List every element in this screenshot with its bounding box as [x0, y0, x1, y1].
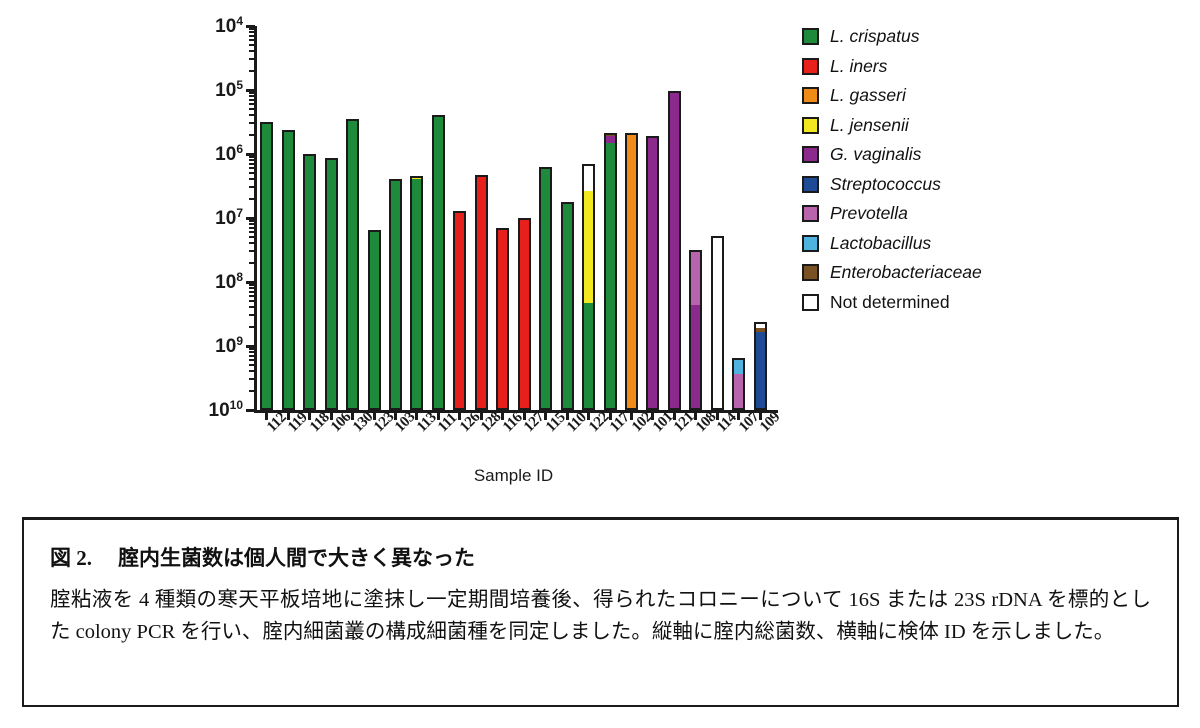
- legend-item-liners[interactable]: L. iners: [802, 52, 1182, 82]
- legend-label: G. vaginalis: [830, 144, 921, 165]
- y-tick-label: 105: [215, 78, 243, 102]
- y-tick-minor: [249, 50, 255, 52]
- y-tick-minor: [249, 284, 255, 286]
- bar-109[interactable]: [754, 322, 767, 410]
- y-tick-minor: [249, 108, 255, 110]
- bar-segment-gvaginalis: [648, 138, 657, 408]
- y-tick-minor: [249, 39, 255, 41]
- y-tick-minor: [249, 262, 255, 264]
- y-tick-minor: [249, 223, 255, 225]
- y-tick-minor: [249, 250, 255, 252]
- legend-item-gvaginalis[interactable]: G. vaginalis: [802, 140, 1182, 170]
- color-swatch-icon: [802, 235, 819, 252]
- y-tick-minor: [249, 198, 255, 200]
- bar-106[interactable]: [325, 158, 338, 410]
- color-swatch-icon: [802, 294, 819, 311]
- y-tick-minor: [249, 306, 255, 308]
- bar-107[interactable]: [732, 358, 745, 410]
- y-tick-minor: [249, 220, 255, 222]
- y-tick-major: [246, 89, 255, 92]
- y-tick-minor: [249, 58, 255, 60]
- bar-segment-prevotella: [691, 252, 700, 305]
- bar-segment-liners: [477, 177, 486, 408]
- caption-title-text: 腟内生菌数は個人間で大きく異なった: [118, 546, 475, 570]
- y-tick-minor: [249, 348, 255, 350]
- y-tick-minor: [249, 122, 255, 124]
- legend-label: L. iners: [830, 56, 887, 77]
- bar-segment-lcrispatus: [563, 204, 572, 408]
- y-tick-minor: [249, 231, 255, 233]
- bar-segment-lcrispatus: [284, 132, 293, 408]
- bar-segment-notdetermined: [713, 238, 722, 408]
- y-tick-minor: [249, 242, 255, 244]
- bar-segment-lcrispatus: [262, 124, 271, 408]
- bar-segment-streptococcus: [756, 332, 765, 408]
- bar-113[interactable]: [410, 176, 423, 410]
- caption-body: 腟粘液を 4 種類の寒天平板培地に塗抹し一定期間培養後、得られたコロニーについて…: [50, 584, 1151, 648]
- y-tick-minor: [249, 300, 255, 302]
- y-tick-minor: [249, 134, 255, 136]
- caption-figure-number: 図 2.: [50, 546, 92, 570]
- legend: L. crispatusL. inersL. gasseriL. jenseni…: [802, 22, 1182, 317]
- bar-118[interactable]: [303, 154, 316, 410]
- bar-102[interactable]: [625, 133, 638, 410]
- y-tick-label: 109: [215, 334, 243, 358]
- bar-segment-lcrispatus: [434, 117, 443, 408]
- bar-126[interactable]: [453, 211, 466, 410]
- bar-127[interactable]: [518, 218, 531, 410]
- legend-label: Not determined: [830, 292, 950, 313]
- legend-label: Lactobacillus: [830, 233, 931, 254]
- bar-segment-lgasseri: [627, 135, 636, 408]
- legend-label: Prevotella: [830, 203, 908, 224]
- bar-segment-prevotella: [734, 374, 743, 408]
- legend-label: L. gasseri: [830, 85, 906, 106]
- bar-110[interactable]: [561, 202, 574, 410]
- bar-segment-ljensenii: [584, 191, 593, 304]
- bar-108[interactable]: [689, 250, 702, 410]
- legend-item-lcrispatus[interactable]: L. crispatus: [802, 22, 1182, 52]
- y-tick-minor: [249, 92, 255, 94]
- caption-box: 図 2.腟内生菌数は個人間で大きく異なった 腟粘液を 4 種類の寒天平板培地に塗…: [22, 517, 1179, 707]
- figure-chart-area: 生菌数(CFU/ml 腟粘液 ) 1010109108107106105104 …: [0, 0, 1200, 512]
- y-tick-major: [246, 345, 255, 348]
- bar-segment-liners: [455, 213, 464, 408]
- y-tick-minor: [249, 156, 255, 158]
- y-tick-major: [246, 217, 255, 220]
- plot-region: 1010109108107106105104 11211911810613012…: [256, 26, 771, 410]
- y-tick-minor: [249, 99, 255, 101]
- y-tick-minor: [249, 186, 255, 188]
- y-tick-minor: [249, 28, 255, 30]
- bar-segment-liners: [520, 220, 529, 408]
- legend-item-notdetermined[interactable]: Not determined: [802, 288, 1182, 318]
- legend-item-streptococcus[interactable]: Streptococcus: [802, 170, 1182, 200]
- y-tick-minor: [249, 236, 255, 238]
- bar-111[interactable]: [432, 115, 445, 410]
- y-tick-minor: [249, 172, 255, 174]
- bar-115[interactable]: [539, 167, 552, 410]
- y-tick-label: 108: [215, 270, 243, 294]
- legend-item-ljensenii[interactable]: L. jensenii: [802, 111, 1182, 141]
- bar-segment-lcrispatus: [584, 303, 593, 408]
- y-tick-minor: [249, 291, 255, 293]
- bar-114[interactable]: [711, 236, 724, 410]
- bar-series-container: [256, 26, 771, 410]
- color-swatch-icon: [802, 28, 819, 45]
- bar-segment-lcrispatus: [305, 156, 314, 408]
- y-tick-minor: [249, 31, 255, 33]
- y-tick-minor: [249, 359, 255, 361]
- color-swatch-icon: [802, 58, 819, 75]
- y-tick-minor: [249, 178, 255, 180]
- y-tick-minor: [249, 167, 255, 169]
- y-tick-minor: [249, 314, 255, 316]
- y-tick-label: 104: [215, 14, 243, 38]
- y-tick-major: [246, 409, 255, 412]
- bar-segment-liners: [498, 230, 507, 408]
- y-tick-minor: [249, 390, 255, 392]
- bar-segment-lcrispatus: [606, 143, 615, 408]
- y-tick-minor: [249, 227, 255, 229]
- bar-segment-gvaginalis: [691, 305, 700, 408]
- y-tick-minor: [249, 103, 255, 105]
- y-tick-major: [246, 281, 255, 284]
- y-tick-minor: [249, 70, 255, 72]
- y-tick-minor: [249, 44, 255, 46]
- y-tick-major: [246, 153, 255, 156]
- bar-128[interactable]: [475, 175, 488, 410]
- legend-item-prevotella[interactable]: Prevotella: [802, 199, 1182, 229]
- bar-segment-gvaginalis: [670, 93, 679, 408]
- bar-103[interactable]: [389, 179, 402, 410]
- bar-112[interactable]: [260, 122, 273, 410]
- bar-segment-lcrispatus: [327, 160, 336, 408]
- y-tick-minor: [249, 95, 255, 97]
- legend-label: Streptococcus: [830, 174, 941, 195]
- y-axis-label: 生菌数(CFU/ml 腟粘液 ): [176, 0, 202, 56]
- y-tick-label: 107: [215, 206, 243, 230]
- bar-segment-lcrispatus: [541, 169, 550, 408]
- y-tick-minor: [249, 370, 255, 372]
- bar-123[interactable]: [368, 230, 381, 410]
- y-tick-minor: [249, 163, 255, 165]
- y-tick-minor: [249, 355, 255, 357]
- y-tick-minor: [249, 295, 255, 297]
- bar-119[interactable]: [282, 130, 295, 410]
- y-tick-major: [246, 25, 255, 28]
- y-tick-minor: [249, 364, 255, 366]
- bar-121[interactable]: [668, 91, 681, 410]
- y-tick-minor: [249, 114, 255, 116]
- y-tick-minor: [249, 159, 255, 161]
- y-tick-minor: [249, 378, 255, 380]
- color-swatch-icon: [802, 205, 819, 222]
- color-swatch-icon: [802, 117, 819, 134]
- bar-116[interactable]: [496, 228, 509, 410]
- color-swatch-icon: [802, 87, 819, 104]
- y-tick-label: 1010: [209, 398, 244, 422]
- y-tick-minor: [249, 326, 255, 328]
- bar-101[interactable]: [646, 136, 659, 410]
- caption-title: 図 2.腟内生菌数は個人間で大きく異なった: [50, 542, 1151, 572]
- legend-item-lactobacillus[interactable]: Lactobacillus: [802, 229, 1182, 259]
- legend-label: L. jensenii: [830, 115, 909, 136]
- color-swatch-icon: [802, 264, 819, 281]
- bar-segment-lcrispatus: [412, 179, 421, 408]
- bar-segment-lactobacillus: [734, 360, 743, 374]
- bar-130[interactable]: [346, 119, 359, 410]
- legend-item-enterobacteriaceae[interactable]: Enterobacteriaceae: [802, 258, 1182, 288]
- y-tick-label: 106: [215, 142, 243, 166]
- x-axis-label: Sample ID: [256, 466, 771, 486]
- bar-segment-lcrispatus: [348, 121, 357, 408]
- y-tick-minor: [249, 287, 255, 289]
- legend-label: Enterobacteriaceae: [830, 262, 982, 283]
- legend-item-lgasseri[interactable]: L. gasseri: [802, 81, 1182, 111]
- bar-segment-notdetermined: [584, 166, 593, 190]
- y-tick-minor: [249, 351, 255, 353]
- bar-122[interactable]: [582, 164, 595, 410]
- color-swatch-icon: [802, 146, 819, 163]
- bar-segment-lcrispatus: [370, 232, 379, 408]
- bar-117[interactable]: [604, 133, 617, 410]
- legend-label: L. crispatus: [830, 26, 919, 47]
- y-tick-minor: [249, 35, 255, 37]
- bar-segment-lcrispatus: [391, 181, 400, 408]
- color-swatch-icon: [802, 176, 819, 193]
